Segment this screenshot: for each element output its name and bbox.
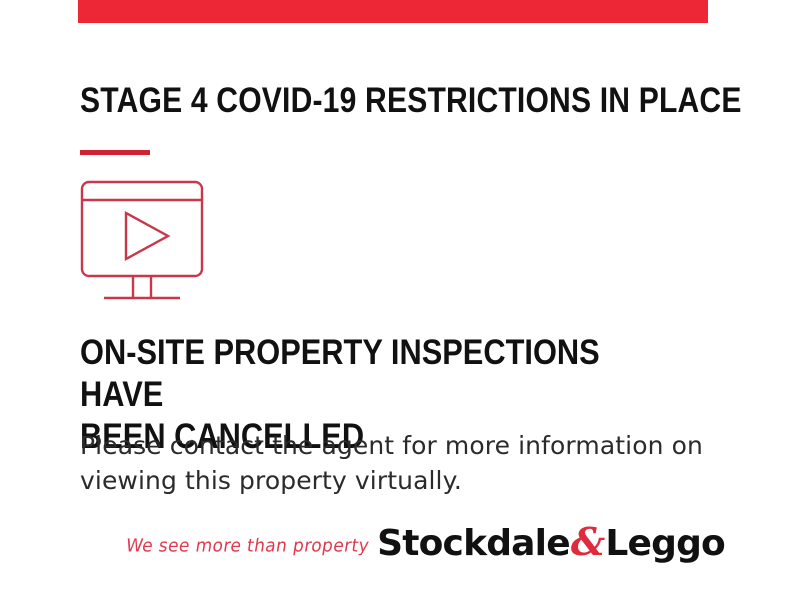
covid-restrictions-poster: STAGE 4 COVID-19 RESTRICTIONS IN PLACE O… xyxy=(0,0,800,600)
monitor-screen-outline xyxy=(82,182,202,276)
subheading-line-1: ON-SITE PROPERTY INSPECTIONS HAVE xyxy=(80,333,600,414)
top-red-accent-bar xyxy=(78,0,708,23)
video-monitor-play-icon-svg xyxy=(80,180,204,305)
video-monitor-play-icon xyxy=(80,180,204,305)
body-text: Please contact the agent for more inform… xyxy=(80,428,720,498)
play-triangle-icon xyxy=(126,213,168,259)
page-title: STAGE 4 COVID-19 RESTRICTIONS IN PLACE xyxy=(80,82,648,120)
stockdale-leggo-logo: Stockdale&Leggo xyxy=(377,523,725,563)
body-text-line-1: Please contact the agent for more inform… xyxy=(80,431,703,460)
footer-logo-lockup: We see more than property Stockdale&Legg… xyxy=(0,505,800,565)
logo-ampersand: & xyxy=(570,519,606,564)
logo-word-stockdale: Stockdale xyxy=(377,523,570,564)
body-text-line-2: viewing this property virtually. xyxy=(80,463,720,498)
brand-tagline: We see more than property xyxy=(124,535,370,556)
red-divider-rule xyxy=(80,150,150,155)
logo-word-leggo: Leggo xyxy=(605,523,725,564)
